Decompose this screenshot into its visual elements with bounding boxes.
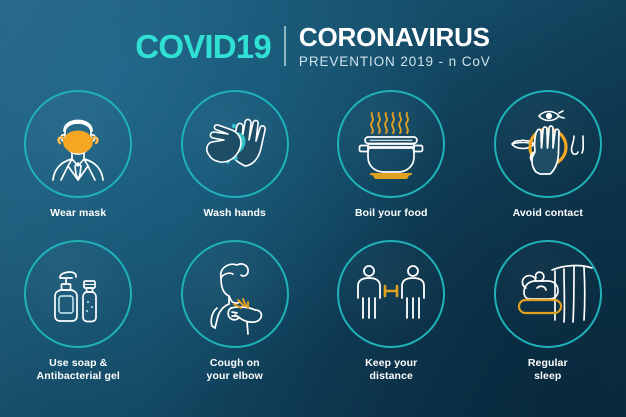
- tip-label: Boil your food: [355, 207, 428, 220]
- boiling-pot-icon: [347, 100, 435, 188]
- washing-hands-icon: [191, 100, 279, 188]
- tip-wash-hands: Wash hands: [157, 90, 314, 240]
- eye-icon: [539, 111, 564, 121]
- soap-bottles-icon: [34, 250, 122, 338]
- two-people-gap-icon: [347, 250, 435, 338]
- tip-use-soap: Use soap &Antibacterial gel: [0, 240, 157, 390]
- icon-circle: [337, 90, 445, 198]
- tip-label: Wash hands: [204, 207, 266, 220]
- tip-avoid-contact: Avoid contact: [470, 90, 626, 240]
- prevention-tips-grid: Wear mask: [0, 90, 626, 390]
- nose-icon: [571, 136, 583, 154]
- cough-elbow-icon: [191, 250, 279, 338]
- tip-label: Use soap &Antibacterial gel: [37, 357, 120, 383]
- tip-label: Avoid contact: [513, 207, 583, 220]
- tip-regular-sleep: Regularsleep: [470, 240, 626, 390]
- icon-circle: [494, 240, 602, 348]
- burner-base: [370, 173, 412, 179]
- poster-header: COVID19 CORONAVIRUS PREVENTION 2019 - n …: [0, 24, 626, 69]
- gel-bottle: [83, 281, 96, 322]
- tip-label: Keep yourdistance: [365, 357, 417, 383]
- tip-wear-mask: Wear mask: [0, 90, 157, 240]
- hand-face-icon: [504, 100, 592, 188]
- tip-keep-distance: Keep yourdistance: [313, 240, 470, 390]
- tip-label: Wear mask: [50, 207, 106, 220]
- tip-label: Cough onyour elbow: [207, 357, 263, 383]
- tip-cough-elbow: Cough onyour elbow: [157, 240, 314, 390]
- icon-circle: [24, 240, 132, 348]
- tip-boil-food: Boil your food: [313, 90, 470, 240]
- header-title-block: CORONAVIRUS PREVENTION 2019 - n CoV: [299, 24, 491, 69]
- page-title: CORONAVIRUS: [299, 24, 491, 50]
- sleeping-person-icon: [502, 248, 594, 340]
- icon-circle: [337, 240, 445, 348]
- page-subtitle: PREVENTION 2019 - n CoV: [299, 55, 491, 69]
- distance-measure: [385, 286, 397, 296]
- masked-person-icon: [34, 100, 122, 188]
- icon-circle: [494, 90, 602, 198]
- covid-prevention-infographic: COVID19 CORONAVIRUS PREVENTION 2019 - n …: [0, 0, 626, 417]
- icon-circle: [181, 90, 289, 198]
- tip-label: Regularsleep: [528, 357, 568, 383]
- icon-circle: [181, 240, 289, 348]
- header-divider: [284, 26, 286, 66]
- stop-hand: [532, 126, 559, 174]
- steam-lines: [371, 113, 408, 133]
- brand-title: COVID19: [135, 30, 271, 63]
- icon-circle: [24, 90, 132, 198]
